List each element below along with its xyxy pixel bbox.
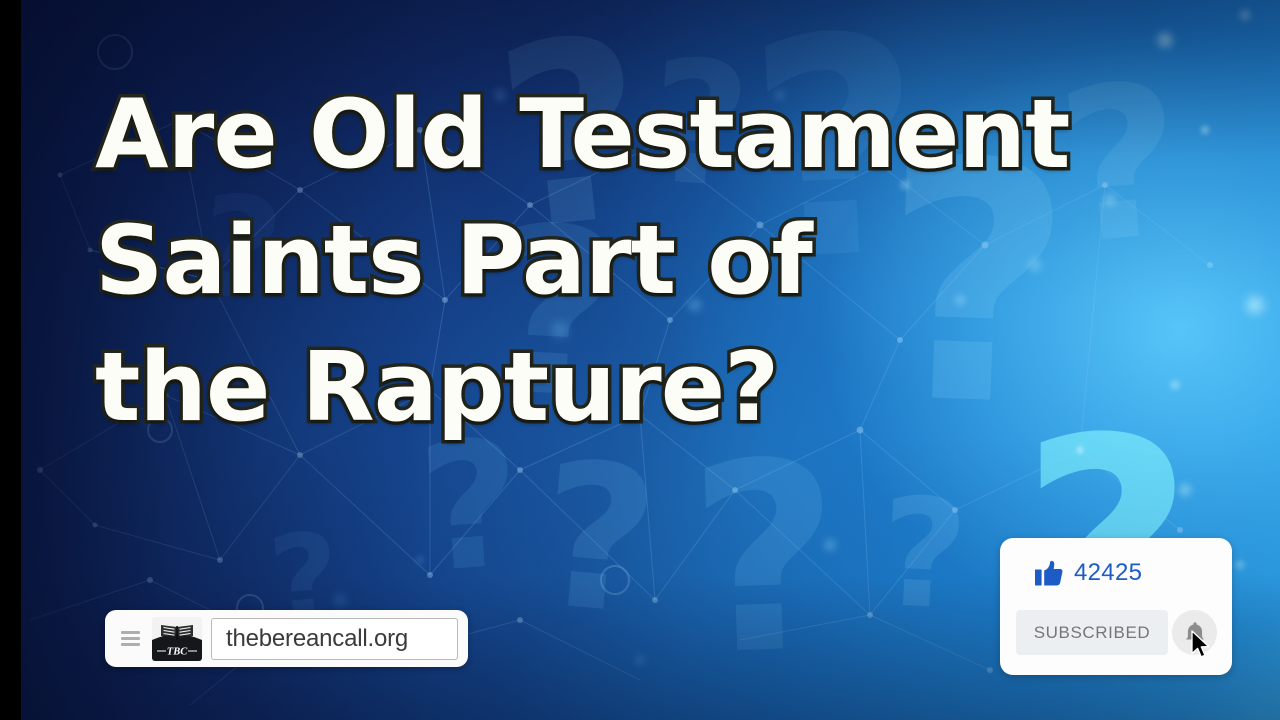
subscribed-button[interactable]: SUBSCRIBED [1016, 610, 1168, 655]
title-line-2: Saints Part of [95, 198, 1235, 324]
browser-url-bar[interactable]: TBC thebereancall.org [105, 610, 468, 667]
url-text: thebereancall.org [226, 625, 408, 653]
url-input-field[interactable]: thebereancall.org [211, 618, 458, 660]
tbc-logo-icon: TBC [152, 617, 202, 661]
thumbnail-canvas: ????????????? [0, 0, 1280, 720]
title-line-1: Are Old Testament [95, 72, 1235, 198]
title-line-3: the Rapture? [95, 325, 1235, 451]
page-title: Are Old Testament Saints Part of the Rap… [95, 72, 1235, 451]
tbc-logo-text: TBC [167, 646, 188, 657]
subscribe-widget: 42425 SUBSCRIBED [1000, 538, 1232, 675]
like-count: 42425 [1074, 559, 1142, 587]
subscribed-button-label: SUBSCRIBED [1034, 623, 1151, 643]
notification-bell-button[interactable] [1172, 610, 1217, 655]
thumbs-up-icon[interactable] [1035, 560, 1063, 587]
like-row: 42425 [1035, 559, 1142, 587]
letterbox-bar-left [0, 0, 21, 720]
notification-bell-icon [1184, 621, 1206, 644]
hamburger-icon[interactable] [121, 631, 140, 646]
